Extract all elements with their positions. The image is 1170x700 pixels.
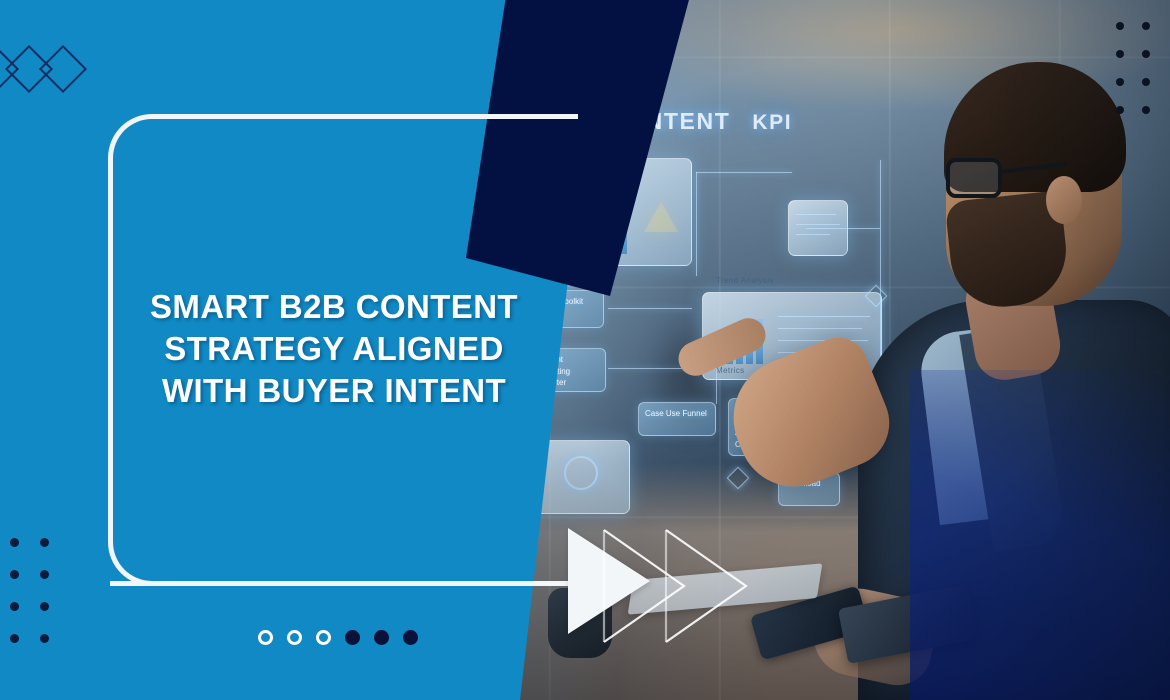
holo-caption-trend: Trend Analysis [716, 276, 774, 285]
holo-diamond-node [727, 467, 750, 490]
headline-line-3: WITH BUYER INTENT [108, 370, 560, 412]
page-title: SMART B2B CONTENT STRATEGY ALIGNED WITH … [108, 286, 560, 413]
diamond-icon [39, 45, 87, 93]
holo-textline [796, 234, 830, 235]
dot [10, 538, 19, 547]
holo-connector [696, 172, 792, 173]
dot [40, 602, 49, 611]
holo-kpi-text: KPI [752, 111, 792, 134]
holo-connector [696, 172, 697, 276]
holo-node-case-funnel: Case Use Funnel [638, 402, 716, 436]
dot [1142, 106, 1150, 114]
diamond-pattern [0, 44, 108, 96]
ear [1046, 176, 1082, 224]
pagination-dot-6[interactable] [403, 630, 418, 645]
dot [40, 634, 49, 643]
dot [40, 570, 49, 579]
dot-grid-bottom-left [10, 538, 70, 666]
holo-warning-triangle [644, 202, 678, 232]
dot [1142, 22, 1150, 30]
dot [10, 634, 19, 643]
dot [10, 570, 19, 579]
chevron-outline-group [600, 524, 790, 648]
holo-caption-metrics: Metrics [716, 366, 745, 375]
holo-textline [796, 224, 840, 225]
dot [1116, 50, 1124, 58]
pagination-dot-3[interactable] [316, 630, 331, 645]
arrow-shaft [110, 581, 600, 586]
pagination-dot-2[interactable] [287, 630, 302, 645]
pagination-dot-5[interactable] [374, 630, 389, 645]
promo-banner: / CONTENTKPI Case Study Trend Analysis M… [0, 0, 1170, 700]
holo-textline [796, 214, 836, 215]
dot [1142, 78, 1150, 86]
carousel-pagination[interactable] [258, 630, 418, 645]
dot [40, 538, 49, 547]
dot-grid-top-right [1116, 22, 1168, 134]
dot [1142, 50, 1150, 58]
holo-logo-ring [564, 456, 598, 490]
headline-line-2: STRATEGY ALIGNED [108, 328, 560, 370]
pagination-dot-1[interactable] [258, 630, 273, 645]
dot [1116, 106, 1124, 114]
chevron-outline-svg [600, 524, 790, 648]
holo-connector [608, 308, 692, 309]
eyeglasses-lens [946, 158, 1002, 198]
headline-line-1: SMART B2B CONTENT [108, 286, 560, 328]
dot [10, 602, 19, 611]
dot [1116, 22, 1124, 30]
holo-connector [716, 368, 717, 404]
dot [1116, 78, 1124, 86]
pagination-dot-4[interactable] [345, 630, 360, 645]
